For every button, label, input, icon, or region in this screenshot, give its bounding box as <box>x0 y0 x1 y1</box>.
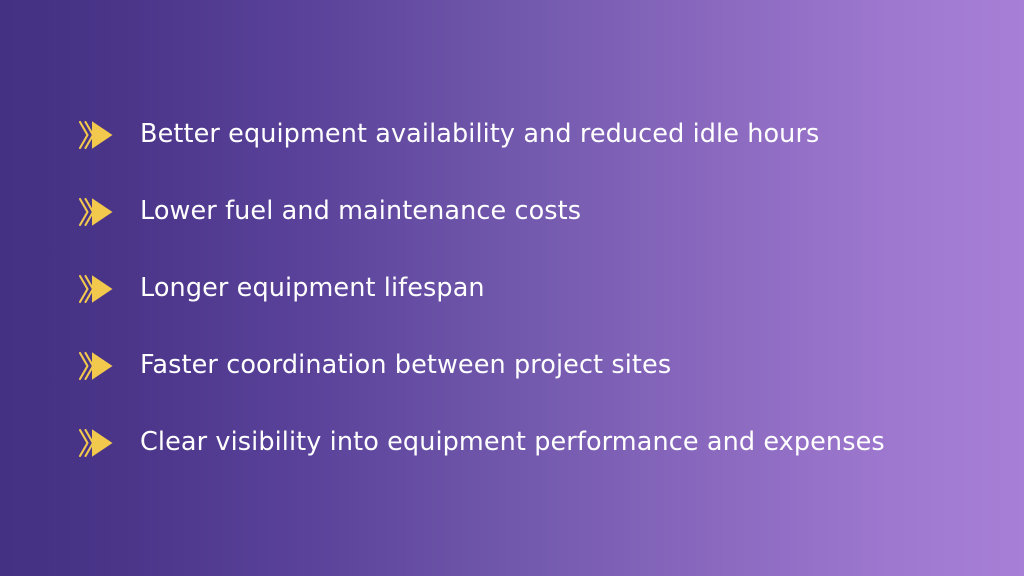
list-item-label: Better equipment availability and reduce… <box>140 119 958 151</box>
bullet-list: Better equipment availability and reduce… <box>78 108 958 469</box>
slide-canvas: Better equipment availability and reduce… <box>0 0 1024 576</box>
list-item-label: Clear visibility into equipment performa… <box>140 427 958 459</box>
list-item: Clear visibility into equipment performa… <box>78 416 958 469</box>
list-item: Better equipment availability and reduce… <box>78 108 958 161</box>
list-item-label: Lower fuel and maintenance costs <box>140 196 958 228</box>
list-item: Longer equipment lifespan <box>78 262 958 315</box>
double-chevron-arrow-icon <box>78 118 118 152</box>
list-item: Faster coordination between project site… <box>78 339 958 392</box>
list-item: Lower fuel and maintenance costs <box>78 185 958 238</box>
list-item-label: Faster coordination between project site… <box>140 350 958 382</box>
double-chevron-arrow-icon <box>78 272 118 306</box>
double-chevron-arrow-icon <box>78 426 118 460</box>
double-chevron-arrow-icon <box>78 195 118 229</box>
list-item-label: Longer equipment lifespan <box>140 273 958 305</box>
double-chevron-arrow-icon <box>78 349 118 383</box>
